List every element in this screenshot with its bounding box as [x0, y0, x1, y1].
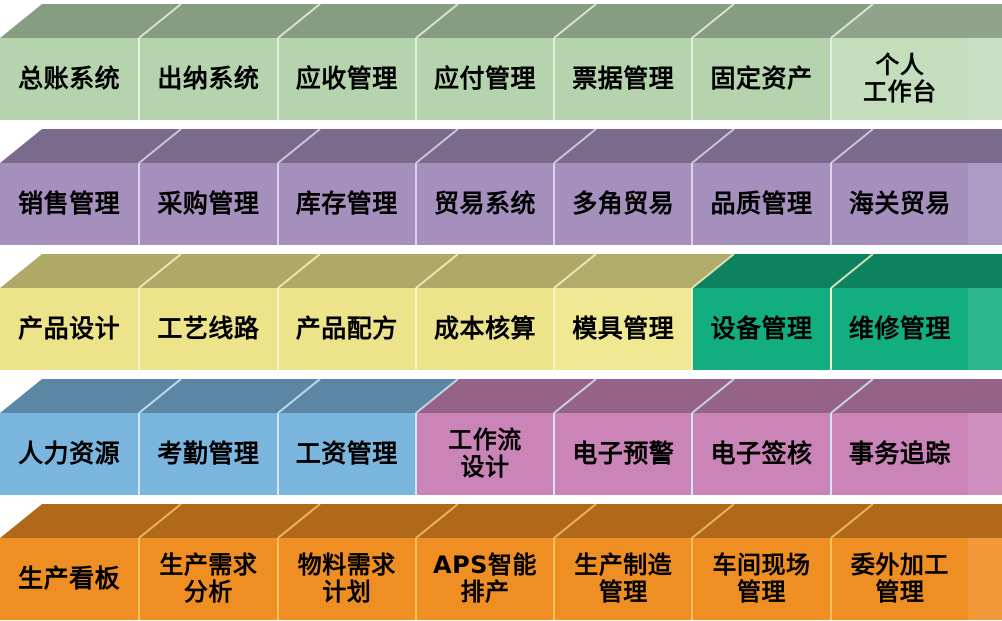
module-cell-label: 工作流 设计	[448, 427, 522, 481]
row-side-face	[968, 288, 1002, 370]
module-cell[interactable]: 工作流 设计	[415, 413, 553, 495]
cell-top-face	[0, 129, 1002, 163]
module-cell[interactable]: 设备管理	[691, 288, 829, 370]
cell-top-divider	[830, 504, 873, 538]
row-side-face	[968, 538, 1002, 620]
cell-top-face	[0, 254, 1002, 288]
module-cell-label: 品质管理	[711, 190, 813, 218]
module-cell-label: 委外加工 管理	[851, 552, 949, 606]
row-front-face: 生产看板生产需求 分析物料需求 计划APS智能 排产生产制造 管理车间现场 管理…	[0, 538, 968, 620]
cell-top-face	[0, 504, 1002, 538]
module-cell[interactable]: 库存管理	[277, 163, 415, 245]
module-cell-label: 维修管理	[849, 315, 951, 343]
cell-top-divider	[415, 4, 458, 38]
module-cell[interactable]: 采购管理	[138, 163, 276, 245]
row-front-face: 总账系统出纳系统应收管理应付管理票据管理固定资产个人 工作台	[0, 38, 968, 120]
cell-top-divider	[139, 129, 182, 163]
cell-top-face	[0, 4, 1002, 38]
row-side-face	[968, 413, 1002, 495]
cell-top-divider	[830, 129, 873, 163]
cell-top-divider	[830, 379, 873, 413]
module-cell-label: 工资管理	[296, 440, 398, 468]
cell-top-face	[0, 504, 1002, 538]
cell-top-divider	[415, 379, 458, 413]
module-cell[interactable]: 工资管理	[277, 413, 415, 495]
module-cell[interactable]: 车间现场 管理	[691, 538, 829, 620]
cell-top-divider	[830, 4, 873, 38]
module-cell[interactable]: 维修管理	[830, 288, 968, 370]
module-cell-label: 采购管理	[157, 190, 259, 218]
cell-top-face	[0, 254, 1002, 288]
cell-top-face	[0, 254, 1002, 288]
module-cell[interactable]: 生产制造 管理	[553, 538, 691, 620]
module-cell[interactable]: 委外加工 管理	[830, 538, 968, 620]
cell-top-divider	[692, 4, 735, 38]
module-cell[interactable]: 多角贸易	[553, 163, 691, 245]
cell-top-face	[0, 504, 1002, 538]
module-cell-label: 电子预警	[572, 440, 674, 468]
module-cell-label: 事务追踪	[849, 440, 951, 468]
row-top-face	[0, 504, 1002, 538]
cell-top-divider	[554, 379, 597, 413]
module-cell[interactable]: 总账系统	[0, 38, 138, 120]
cell-top-divider	[692, 504, 735, 538]
module-cell[interactable]: 产品设计	[0, 288, 138, 370]
module-cell[interactable]: 固定资产	[691, 38, 829, 120]
cell-top-divider	[554, 254, 597, 288]
cell-top-divider	[692, 129, 735, 163]
module-cell[interactable]: 海关贸易	[830, 163, 968, 245]
module-cell[interactable]: 电子签核	[691, 413, 829, 495]
cell-top-divider	[139, 504, 182, 538]
row-front-face: 销售管理采购管理库存管理贸易系统多角贸易品质管理海关贸易	[0, 163, 968, 245]
cell-top-divider	[277, 129, 320, 163]
module-row-hr-workflow: 人力资源考勤管理工资管理工作流 设计电子预警电子签核事务追踪	[0, 379, 1002, 495]
module-cell-label: 生产制造 管理	[574, 552, 672, 606]
module-cell[interactable]: 生产需求 分析	[138, 538, 276, 620]
module-cell[interactable]: 应付管理	[415, 38, 553, 120]
cell-top-face	[0, 504, 1002, 538]
module-cell[interactable]: 电子预警	[553, 413, 691, 495]
cell-top-face	[0, 379, 1002, 413]
cell-top-face	[0, 129, 1002, 163]
module-cell-label: 车间现场 管理	[713, 552, 811, 606]
cell-top-divider	[415, 504, 458, 538]
module-row-manufacturing: 生产看板生产需求 分析物料需求 计划APS智能 排产生产制造 管理车间现场 管理…	[0, 504, 1002, 620]
module-cell-label: 出纳系统	[157, 65, 259, 93]
row-front-face: 人力资源考勤管理工资管理工作流 设计电子预警电子签核事务追踪	[0, 413, 968, 495]
cell-top-face	[0, 379, 1002, 413]
row-top-face	[0, 129, 1002, 163]
cell-top-divider	[277, 4, 320, 38]
cell-top-face	[0, 504, 1002, 538]
module-cell[interactable]: 模具管理	[553, 288, 691, 370]
module-cell[interactable]: 成本核算	[415, 288, 553, 370]
module-cell-label: 考勤管理	[157, 440, 259, 468]
module-cell[interactable]: 考勤管理	[138, 413, 276, 495]
cell-top-face	[0, 254, 1002, 288]
module-cell-label: APS智能 排产	[433, 552, 537, 606]
row-front-face: 产品设计工艺线路产品配方成本核算模具管理设备管理维修管理	[0, 288, 968, 370]
cell-top-face	[0, 254, 1002, 288]
module-cell-label: 设备管理	[711, 315, 813, 343]
cell-top-divider	[554, 4, 597, 38]
module-cell-label: 个人 工作台	[863, 52, 937, 106]
cell-top-divider	[277, 504, 320, 538]
module-cell-label: 工艺线路	[157, 315, 259, 343]
cell-top-face	[0, 4, 1002, 38]
module-cell-label: 票据管理	[572, 65, 674, 93]
module-cell-label: 总账系统	[18, 65, 120, 93]
cell-top-face	[0, 129, 1002, 163]
module-cell[interactable]: 出纳系统	[138, 38, 276, 120]
module-cell[interactable]: 生产看板	[0, 538, 138, 620]
row-top-face	[0, 4, 1002, 38]
cell-top-face	[0, 4, 1002, 38]
cell-top-face	[0, 254, 1002, 288]
cell-top-face	[0, 504, 1002, 538]
module-cell[interactable]: 产品配方	[277, 288, 415, 370]
module-cell[interactable]: 工艺线路	[138, 288, 276, 370]
cell-top-face	[0, 129, 1002, 163]
module-cell-label: 贸易系统	[434, 190, 536, 218]
module-cell[interactable]: 事务追踪	[830, 413, 968, 495]
row-top-face	[0, 379, 1002, 413]
module-row-finance: 总账系统出纳系统应收管理应付管理票据管理固定资产个人 工作台	[0, 4, 1002, 120]
cell-top-face	[0, 129, 1002, 163]
cell-top-face	[0, 379, 1002, 413]
cell-top-divider	[139, 254, 182, 288]
module-cell-label: 销售管理	[18, 190, 120, 218]
module-cell-label: 生产需求 分析	[159, 552, 257, 606]
module-cell-label: 生产看板	[18, 565, 120, 593]
module-cell[interactable]: 票据管理	[553, 38, 691, 120]
row-side-face	[968, 38, 1002, 120]
row-side-face	[968, 163, 1002, 245]
module-cell[interactable]: 品质管理	[691, 163, 829, 245]
cell-top-divider	[692, 254, 735, 288]
module-cell[interactable]: 应收管理	[277, 38, 415, 120]
cell-top-face	[0, 129, 1002, 163]
cell-top-face	[0, 254, 1002, 288]
module-cell-label: 多角贸易	[572, 190, 674, 218]
module-cell-label: 成本核算	[434, 315, 536, 343]
cell-top-divider	[554, 504, 597, 538]
module-cell-label: 产品设计	[18, 315, 120, 343]
module-cell-label: 人力资源	[18, 440, 120, 468]
cell-top-face	[0, 4, 1002, 38]
module-cell-label: 物料需求 计划	[298, 552, 396, 606]
module-cell-label: 应收管理	[296, 65, 398, 93]
module-cell-label: 海关贸易	[849, 190, 951, 218]
cell-top-divider	[139, 379, 182, 413]
cell-top-face	[0, 379, 1002, 413]
module-row-distribution: 销售管理采购管理库存管理贸易系统多角贸易品质管理海关贸易	[0, 129, 1002, 245]
module-cell-label: 电子签核	[711, 440, 813, 468]
module-cell-label: 应付管理	[434, 65, 536, 93]
cell-top-face	[0, 379, 1002, 413]
module-row-engineering: 产品设计工艺线路产品配方成本核算模具管理设备管理维修管理	[0, 254, 1002, 370]
module-cell[interactable]: 销售管理	[0, 163, 138, 245]
cell-top-divider	[830, 254, 873, 288]
cell-top-face	[0, 4, 1002, 38]
cell-top-face	[0, 4, 1002, 38]
erp-module-diagram: 总账系统出纳系统应收管理应付管理票据管理固定资产个人 工作台销售管理采购管理库存…	[0, 0, 1002, 621]
module-cell[interactable]: 贸易系统	[415, 163, 553, 245]
module-cell[interactable]: APS智能 排产	[415, 538, 553, 620]
cell-top-face	[0, 379, 1002, 413]
cell-top-divider	[277, 379, 320, 413]
cell-top-divider	[139, 4, 182, 38]
module-cell[interactable]: 个人 工作台	[830, 38, 968, 120]
module-cell-label: 产品配方	[296, 315, 398, 343]
module-cell[interactable]: 物料需求 计划	[277, 538, 415, 620]
module-cell-label: 库存管理	[296, 190, 398, 218]
cell-top-face	[0, 379, 1002, 413]
cell-top-face	[0, 129, 1002, 163]
cell-top-divider	[277, 254, 320, 288]
cell-top-face	[0, 4, 1002, 38]
cell-top-divider	[415, 254, 458, 288]
cell-top-divider	[415, 129, 458, 163]
module-cell[interactable]: 人力资源	[0, 413, 138, 495]
module-cell-label: 模具管理	[572, 315, 674, 343]
row-top-face	[0, 254, 1002, 288]
cell-top-divider	[554, 129, 597, 163]
module-cell-label: 固定资产	[711, 65, 813, 93]
cell-top-divider	[692, 379, 735, 413]
cell-top-face	[0, 504, 1002, 538]
